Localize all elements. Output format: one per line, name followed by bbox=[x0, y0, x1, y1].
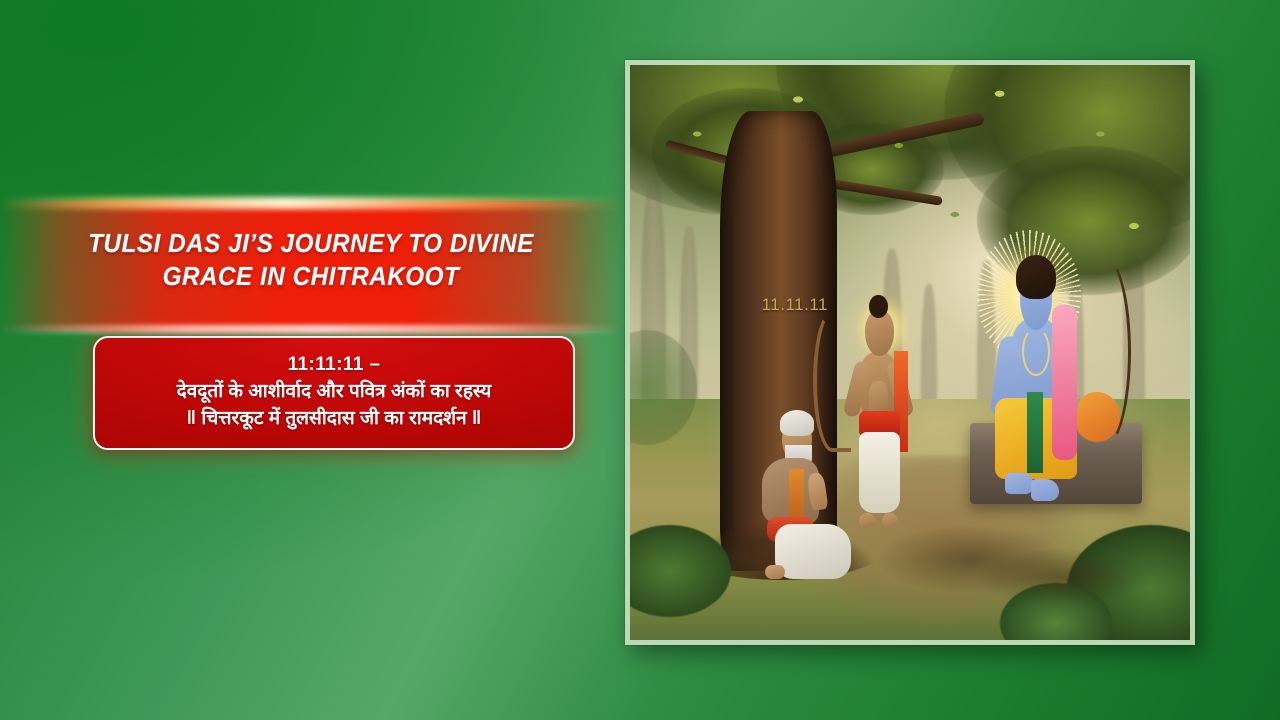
tulsidas-dhoti bbox=[775, 524, 851, 579]
ground-shadow bbox=[977, 548, 1145, 606]
artwork-illustration: 11.11.11 bbox=[630, 65, 1190, 640]
rama-green-sash bbox=[1027, 392, 1043, 473]
hanuman-foot bbox=[882, 513, 898, 528]
page-title: Tulsi Das Ji’s Journey to Divine Grace i… bbox=[22, 201, 600, 293]
rama-pink-shawl bbox=[1052, 305, 1077, 460]
subtitle-line-hindi-2: ‖ चित्तरकूट में तुलसीदास जी का रामदर्शन … bbox=[187, 406, 482, 433]
tulsidas-praying-hands bbox=[807, 472, 829, 511]
tulsidas-turban bbox=[780, 410, 814, 436]
title-line-2: Grace in Chitrakoot bbox=[163, 261, 460, 291]
orange-bolster bbox=[1074, 392, 1121, 442]
rama-necklace bbox=[1022, 327, 1051, 377]
title-line-1: Tulsi Das Ji’s Journey to Divine bbox=[88, 228, 534, 258]
figure-rama bbox=[966, 249, 1145, 560]
watermark-text: 11.11.11 bbox=[762, 295, 828, 315]
rama-foot bbox=[1031, 479, 1060, 501]
poster-canvas: 11.11.11 bbox=[0, 0, 1280, 720]
rama-hair bbox=[1016, 255, 1055, 298]
subtitle-line-hindi-1: देवदूतों के आशीर्वाद और पवित्र अंकों का … bbox=[177, 379, 492, 406]
subtitle-card: 11:11:11 – देवदूतों के आशीर्वाद और पवित्… bbox=[93, 336, 575, 450]
title-banner: Tulsi Das Ji’s Journey to Divine Grace i… bbox=[0, 201, 622, 331]
figure-tulsidas bbox=[748, 410, 871, 594]
hanuman-hair-bun bbox=[869, 295, 887, 318]
subtitle-time: 11:11:11 – bbox=[288, 354, 381, 376]
rama-foot bbox=[1005, 473, 1034, 495]
tulsidas-foot bbox=[765, 565, 785, 580]
artwork-frame: 11.11.11 bbox=[625, 60, 1195, 645]
